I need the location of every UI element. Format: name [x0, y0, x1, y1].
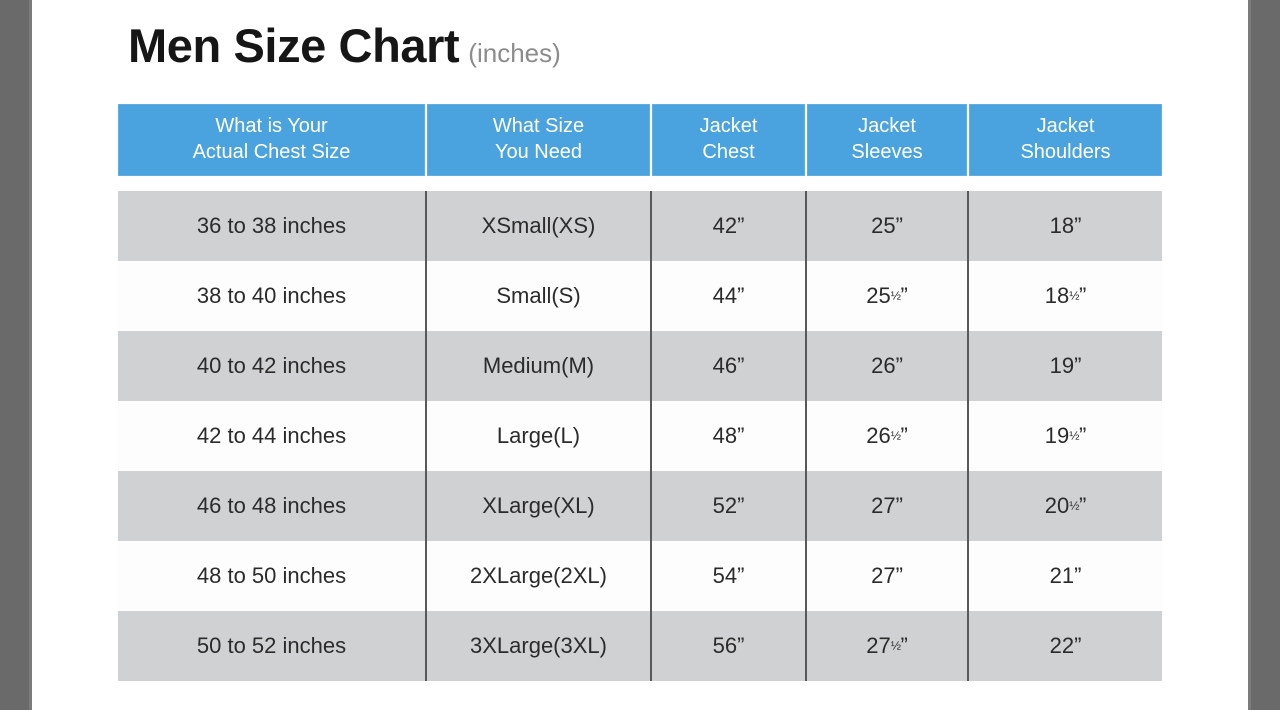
- size-chart-table: What is Your Actual Chest Size What Size…: [118, 104, 1162, 681]
- cell-jacket-chest: 54”: [651, 541, 806, 611]
- page-title-units: (inches): [468, 38, 560, 69]
- cell-size-you-need: XSmall(XS): [426, 191, 651, 261]
- cell-jacket-shoulders: 19½”: [968, 401, 1162, 471]
- column-header-line2: Actual Chest Size: [118, 140, 425, 166]
- chart-page: Men Size Chart (inches) What is Your Act…: [32, 0, 1248, 710]
- header-body-spacer: [118, 176, 1162, 191]
- page-title-main: Men Size Chart: [128, 18, 459, 73]
- screenshot-stage: Men Size Chart (inches) What is Your Act…: [0, 0, 1280, 710]
- column-header-jacket-chest: Jacket Chest: [651, 104, 806, 176]
- cell-actual-chest-size: 46 to 48 inches: [118, 471, 426, 541]
- table-row: 46 to 48 inchesXLarge(XL)52”27”20½”: [118, 471, 1162, 541]
- cell-actual-chest-size: 48 to 50 inches: [118, 541, 426, 611]
- page-title: Men Size Chart (inches): [128, 18, 561, 73]
- column-header-line2: You Need: [427, 140, 650, 166]
- cell-size-you-need: 3XLarge(3XL): [426, 611, 651, 681]
- cell-size-you-need: 2XLarge(2XL): [426, 541, 651, 611]
- column-header-line2: Sleeves: [807, 140, 967, 166]
- column-header-line2: Shoulders: [969, 140, 1162, 166]
- letterbox-bar-left: [0, 0, 32, 710]
- cell-jacket-sleeves: 26”: [806, 331, 968, 401]
- cell-actual-chest-size: 50 to 52 inches: [118, 611, 426, 681]
- cell-jacket-shoulders: 22”: [968, 611, 1162, 681]
- column-header-jacket-sleeves: Jacket Sleeves: [806, 104, 968, 176]
- spacer-cell: [118, 176, 1162, 191]
- cell-size-you-need: XLarge(XL): [426, 471, 651, 541]
- table-row: 40 to 42 inchesMedium(M)46”26”19”: [118, 331, 1162, 401]
- cell-jacket-chest: 42”: [651, 191, 806, 261]
- column-header-jacket-shoulders: Jacket Shoulders: [968, 104, 1162, 176]
- table-header: What is Your Actual Chest Size What Size…: [118, 104, 1162, 176]
- column-header-line2: Chest: [652, 140, 805, 166]
- cell-jacket-chest: 44”: [651, 261, 806, 331]
- table-row: 50 to 52 inches3XLarge(3XL)56”27½”22”: [118, 611, 1162, 681]
- column-header-line1: What is Your: [118, 114, 425, 140]
- table-row: 42 to 44 inchesLarge(L)48”26½”19½”: [118, 401, 1162, 471]
- cell-jacket-shoulders: 21”: [968, 541, 1162, 611]
- cell-jacket-sleeves: 26½”: [806, 401, 968, 471]
- table-row: 48 to 50 inches2XLarge(2XL)54”27”21”: [118, 541, 1162, 611]
- cell-jacket-chest: 48”: [651, 401, 806, 471]
- cell-jacket-sleeves: 27”: [806, 541, 968, 611]
- cell-jacket-chest: 52”: [651, 471, 806, 541]
- cell-jacket-shoulders: 18”: [968, 191, 1162, 261]
- cell-jacket-chest: 56”: [651, 611, 806, 681]
- column-header-line1: Jacket: [652, 114, 805, 140]
- table-row: 36 to 38 inchesXSmall(XS)42”25”18”: [118, 191, 1162, 261]
- cell-actual-chest-size: 36 to 38 inches: [118, 191, 426, 261]
- cell-size-you-need: Small(S): [426, 261, 651, 331]
- column-header-line1: Jacket: [969, 114, 1162, 140]
- cell-jacket-shoulders: 20½”: [968, 471, 1162, 541]
- cell-actual-chest-size: 42 to 44 inches: [118, 401, 426, 471]
- cell-jacket-sleeves: 27”: [806, 471, 968, 541]
- cell-jacket-shoulders: 19”: [968, 331, 1162, 401]
- column-header-line1: Jacket: [807, 114, 967, 140]
- cell-jacket-shoulders: 18½”: [968, 261, 1162, 331]
- cell-jacket-chest: 46”: [651, 331, 806, 401]
- cell-jacket-sleeves: 25”: [806, 191, 968, 261]
- cell-size-you-need: Large(L): [426, 401, 651, 471]
- column-header-actual-chest-size: What is Your Actual Chest Size: [118, 104, 426, 176]
- header-row: What is Your Actual Chest Size What Size…: [118, 104, 1162, 176]
- table-body: 36 to 38 inchesXSmall(XS)42”25”18”38 to …: [118, 176, 1162, 681]
- column-header-line1: What Size: [427, 114, 650, 140]
- cell-size-you-need: Medium(M): [426, 331, 651, 401]
- cell-actual-chest-size: 40 to 42 inches: [118, 331, 426, 401]
- cell-actual-chest-size: 38 to 40 inches: [118, 261, 426, 331]
- column-header-size-you-need: What Size You Need: [426, 104, 651, 176]
- table-row: 38 to 40 inchesSmall(S)44”25½”18½”: [118, 261, 1162, 331]
- letterbox-edge-right: [1248, 0, 1251, 710]
- cell-jacket-sleeves: 27½”: [806, 611, 968, 681]
- letterbox-bar-right: [1248, 0, 1280, 710]
- cell-jacket-sleeves: 25½”: [806, 261, 968, 331]
